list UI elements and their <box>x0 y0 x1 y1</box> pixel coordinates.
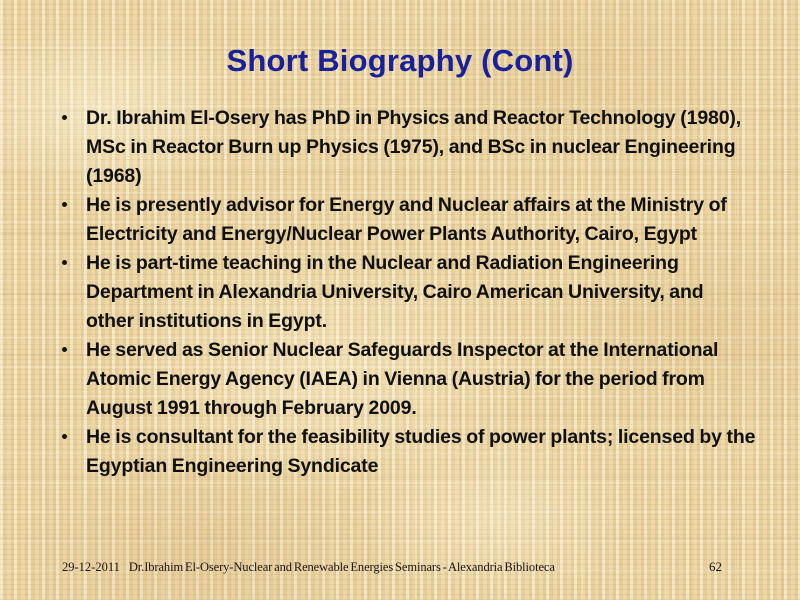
footer-date: 29-12-2011 <box>62 560 120 575</box>
bullet-text: Dr. Ibrahim El-Osery has PhD in Physics … <box>86 104 756 191</box>
slide-title: Short Biography (Cont) <box>0 43 800 79</box>
list-item: He is part-time teaching in the Nuclear … <box>56 249 756 336</box>
presentation-slide: Short Biography (Cont) Dr. Ibrahim El-Os… <box>0 0 800 600</box>
bullet-text: He is presently advisor for Energy and N… <box>86 191 756 249</box>
bullet-text: He is part-time teaching in the Nuclear … <box>86 249 756 336</box>
slide-number: 62 <box>709 559 752 575</box>
bullet-dot-icon <box>62 347 67 352</box>
slide-footer: 29-12-2011 Dr.Ibrahim El-Osery-Nuclear a… <box>62 559 752 575</box>
bullet-dot-icon <box>62 434 67 439</box>
list-item: He is presently advisor for Energy and N… <box>56 191 756 249</box>
bullet-dot-icon <box>62 260 67 265</box>
bullet-list: Dr. Ibrahim El-Osery has PhD in Physics … <box>56 104 756 481</box>
footer-note: Dr.Ibrahim El-Osery-Nuclear and Renewabl… <box>129 560 555 575</box>
bullet-text: He served as Senior Nuclear Safeguards I… <box>86 336 756 423</box>
list-item: He is consultant for the feasibility stu… <box>56 423 756 481</box>
bullet-dot-icon <box>62 202 67 207</box>
bullet-text: He is consultant for the feasibility stu… <box>86 423 756 481</box>
list-item: Dr. Ibrahim El-Osery has PhD in Physics … <box>56 104 756 191</box>
list-item: He served as Senior Nuclear Safeguards I… <box>56 336 756 423</box>
bullet-dot-icon <box>62 115 67 120</box>
